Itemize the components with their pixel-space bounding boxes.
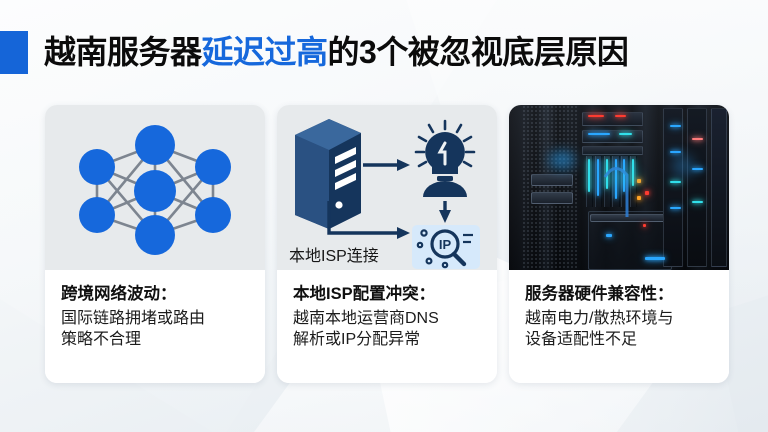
page-title-prefix: 越南服务器 [44,34,202,70]
card-desc-line-1: 越南电力/散热环境与 [525,308,715,329]
accent-bar [0,31,28,74]
arrowhead-upper [397,159,410,171]
card-local-isp-conflict[interactable]: IP 本地ISP连接 本地ISP配置冲突： 越南本地运营商DNS 解析或IP分配… [277,105,497,383]
card-heading: 服务器硬件兼容性： [525,284,715,305]
card-desc-line-2: 解析或IP分配异常 [293,329,483,350]
magnifier-label: IP [439,237,452,252]
card-heading: 跨境网络波动： [61,284,251,305]
card-desc-line-2: 策略不合理 [61,329,251,350]
page-title-suffix: 的3个被忽视底层原因 [328,34,629,70]
rack-cable [509,105,729,270]
page-title: 越南服务器延迟过高的3个被忽视底层原因 [44,36,628,68]
page-title-highlight: 延迟过高 [202,34,328,70]
card-cross-border-network[interactable]: 跨境网络波动： 国际链路拥堵或路由 策略不合理 [45,105,265,383]
card-media-isp-flow: IP 本地ISP连接 [277,105,497,270]
card-desc-line-1: 国际链路拥堵或路由 [61,308,251,329]
card-hardware-compatibility[interactable]: 服务器硬件兼容性： 越南电力/散热环境与 设备适配性不足 [509,105,729,383]
card-heading: 本地ISP配置冲突： [293,284,483,305]
page-header: 越南服务器延迟过高的3个被忽视底层原因 [0,22,768,82]
card-desc-line-2: 设备适配性不足 [525,329,715,350]
arrowhead-down [439,210,451,223]
card-body-cross-border-network: 跨境网络波动： 国际链路拥堵或路由 策略不合理 [45,270,265,383]
card-body-local-isp-conflict: 本地ISP配置冲突： 越南本地运营商DNS 解析或IP分配异常 [277,270,497,383]
card-body-hardware-compatibility: 服务器硬件兼容性： 越南电力/散热环境与 设备适配性不足 [509,270,729,383]
server-rack-image [509,105,729,270]
card-desc-line-1: 越南本地运营商DNS [293,308,483,329]
card-media-server-rack-photo [509,105,729,270]
arrowhead-lower [397,227,410,239]
card-media-network-graph [45,105,265,270]
network-graph-icon [45,105,265,270]
card-row: 跨境网络波动： 国际链路拥堵或路由 策略不合理 [45,105,729,383]
isp-diagram-caption: 本地ISP连接 [289,242,379,266]
